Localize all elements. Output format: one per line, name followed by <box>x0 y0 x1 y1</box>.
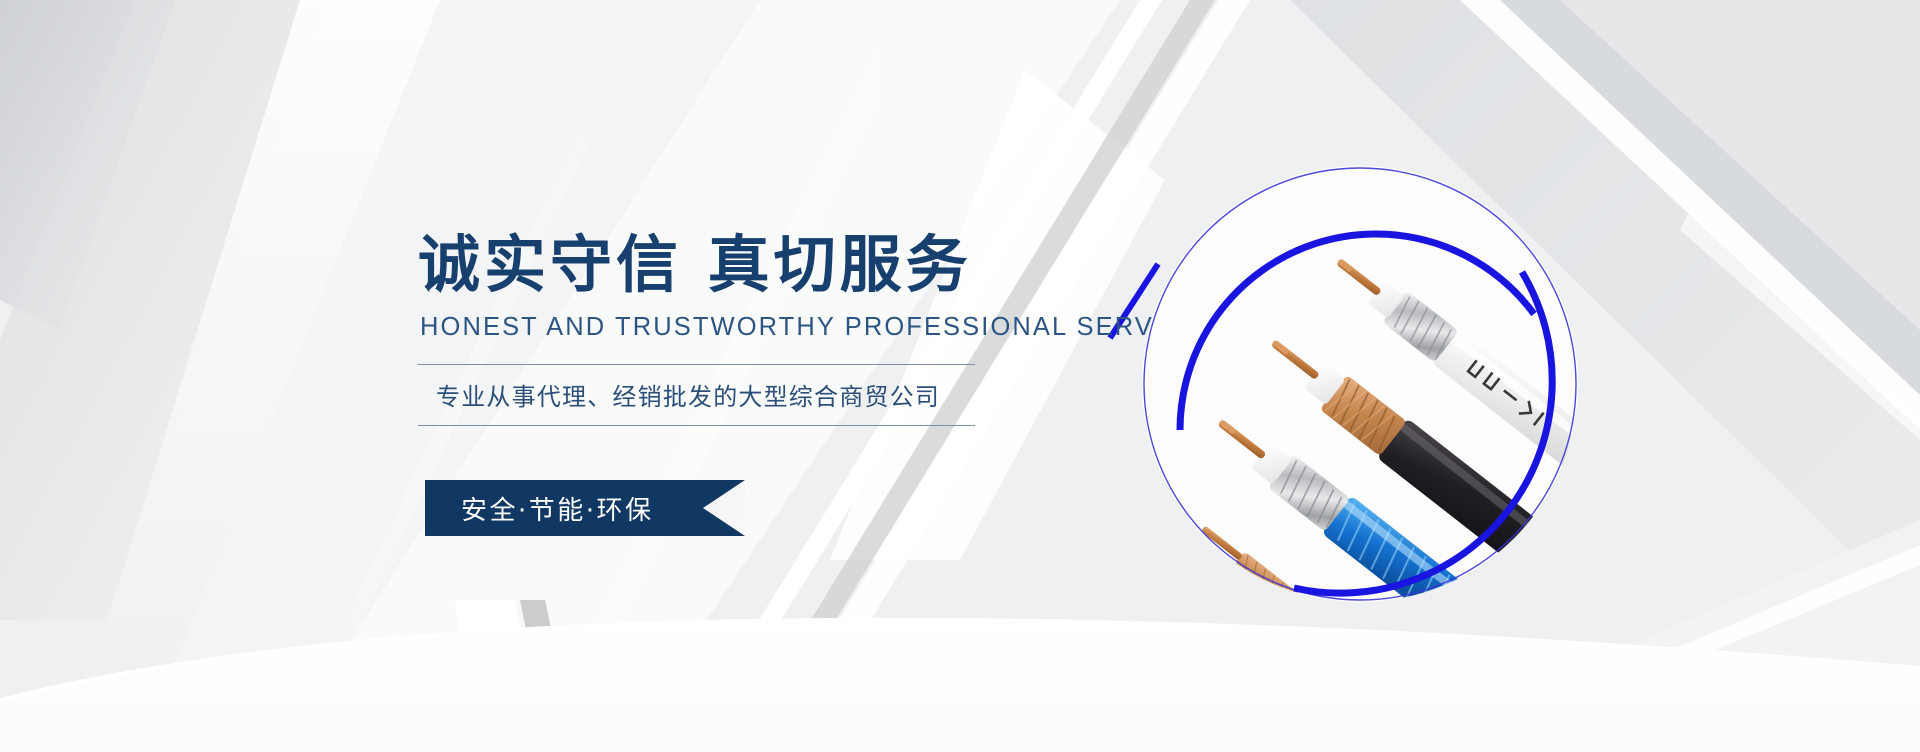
medallion-arc-right <box>1294 272 1552 593</box>
bg-pillar-light <box>455 600 548 740</box>
page-title: 诚实守信 真切服务 <box>418 232 1058 299</box>
status-badge: 安全·节能·环保 <box>425 480 745 536</box>
bg-band-right-5 <box>1380 640 1920 752</box>
bg-floor-edge <box>0 620 1920 700</box>
status-badge-label: 安全·节能·环保 <box>461 490 654 527</box>
bg-panel-left-light <box>95 0 470 660</box>
product-medallion <box>1128 152 1592 616</box>
medallion-arc-top <box>1180 234 1534 430</box>
hero-text-block: 诚实守信 真切服务 HONEST AND TRUSTWORTHY PROFESS… <box>418 232 1058 426</box>
page-description: 专业从事代理、经销批发的大型综合商贸公司 <box>436 377 975 412</box>
bg-band-right-4 <box>1560 0 1920 330</box>
page-subtitle: HONEST AND TRUSTWORTHY PROFESSIONAL SERV… <box>420 313 1058 342</box>
bg-panel-left-mid <box>0 0 330 620</box>
ribbon-notch-shape <box>703 480 745 536</box>
bg-floor <box>0 620 1920 752</box>
bg-panel-left-dark <box>0 0 175 330</box>
medallion-ring-group <box>1128 152 1592 616</box>
bg-glint-3 <box>1680 210 1920 440</box>
hero-banner: 诚实守信 真切服务 HONEST AND TRUSTWORTHY PROFESS… <box>0 0 1920 752</box>
bg-pillar <box>515 600 575 740</box>
description-rule-box: 专业从事代理、经销批发的大型综合商贸公司 <box>418 364 975 426</box>
